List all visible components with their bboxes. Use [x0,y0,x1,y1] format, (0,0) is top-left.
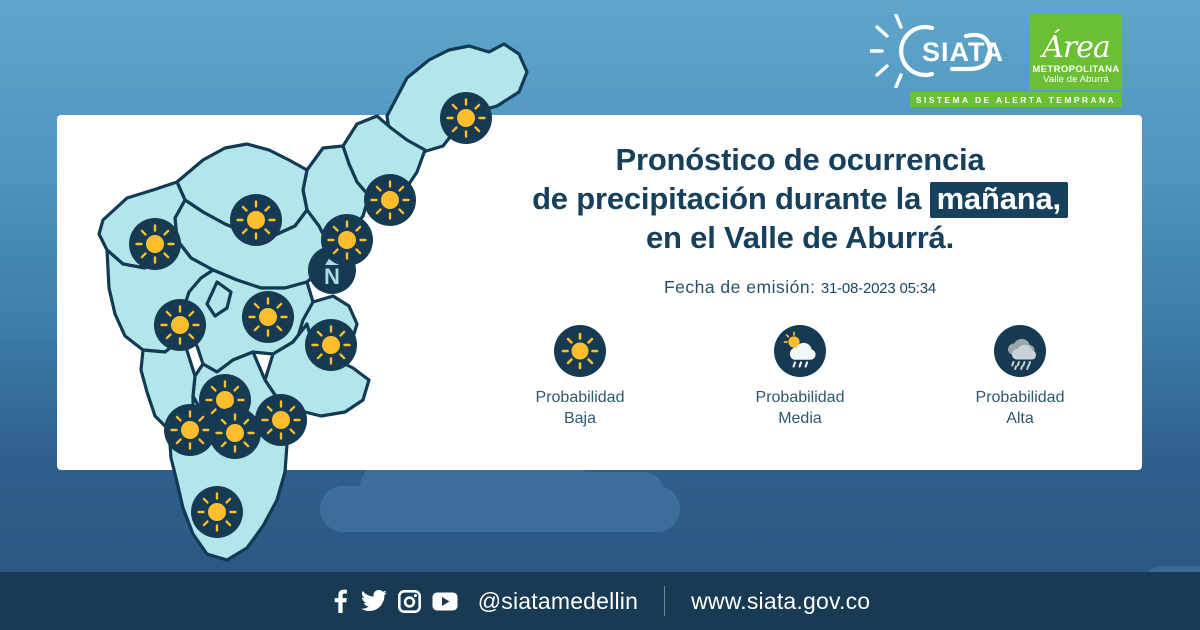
legend-label-baja: Probabilidad Baja [490,387,670,429]
title-line-3: en el Valle de Aburrá. [470,218,1130,257]
legend-label-line1: Probabilidad [710,387,890,408]
facebook-icon[interactable] [330,589,350,613]
map-marker-baja [154,299,206,351]
legend-label-line2: Media [710,408,890,429]
issue-date: Fecha de emisión: 31-08-2023 05:34 [470,277,1130,298]
legend-label-line1: Probabilidad [930,387,1110,408]
siata-tagline-bar: SISTEMA DE ALERTA TEMPRANA [910,92,1122,107]
youtube-icon[interactable] [432,592,458,611]
forecast-poster: SIATA Área METROPOLITANA Valle de Aburrá… [0,0,1200,630]
page-title: Pronóstico de ocurrencia de precipitació… [470,140,1130,257]
cloud-rain-icon [994,325,1046,377]
svg-text:SIATA: SIATA [922,37,1004,67]
area-badge-line2: Valle de Aburrá [1043,75,1109,86]
legend-item-media: Probabilidad Media [710,325,890,429]
footer-bar: @siatamedellin www.siata.gov.co [0,572,1200,630]
footer-divider [664,586,665,616]
legend-label-alta: Probabilidad Alta [930,387,1110,429]
map-marker-baja [164,404,216,456]
map-marker-baja [230,194,282,246]
sun-icon [554,325,606,377]
compass-label: N [324,264,340,289]
map-marker-baja [129,218,181,270]
social-handle[interactable]: @siatamedellin [478,588,638,615]
map-marker-baja [209,407,261,459]
title-line-2-text: de precipitación durante la [532,181,921,216]
legend-item-baja: Probabilidad Baja [490,325,670,429]
map-marker-baja [321,214,373,266]
legend-label-line2: Baja [490,408,670,429]
legend-label-line2: Alta [930,408,1110,429]
map-marker-baja [255,394,307,446]
probability-legend: Probabilidad Baja [470,325,1130,429]
sun-cloud-rain-icon [774,325,826,377]
issue-date-label: Fecha de emisión: [664,277,816,297]
website-url[interactable]: www.siata.gov.co [691,588,870,615]
header-logos: SIATA Área METROPOLITANA Valle de Aburrá [870,14,1122,90]
instagram-icon[interactable] [398,590,421,613]
map-marker-baja [364,174,416,226]
legend-label-line1: Probabilidad [490,387,670,408]
title-line-1: Pronóstico de ocurrencia [470,140,1130,179]
social-icons [330,589,458,613]
map-marker-baja [305,319,357,371]
siata-tagline-text: SISTEMA DE ALERTA TEMPRANA [916,95,1116,105]
title-line-2: de precipitación durante la mañana, [470,179,1130,218]
issue-date-timestamp: 31-08-2023 05:34 [821,280,936,297]
headline-block: Pronóstico de ocurrencia de precipitació… [470,140,1130,298]
area-metropolitana-badge: Área METROPOLITANA Valle de Aburrá [1030,14,1122,90]
legend-label-media: Probabilidad Media [710,387,890,429]
sun-cloud-icon: SIATA [870,14,1020,88]
map-marker-baja [191,486,243,538]
map-marker-baja [440,92,492,144]
legend-item-alta: Probabilidad Alta [930,325,1110,429]
title-highlight-periodo: mañana, [930,182,1068,218]
valle-de-aburra-map: N [57,20,537,580]
area-badge-script: Área [1042,33,1110,63]
siata-logo: SIATA [870,14,1020,88]
map-marker-baja [242,291,294,343]
twitter-icon[interactable] [361,590,387,612]
